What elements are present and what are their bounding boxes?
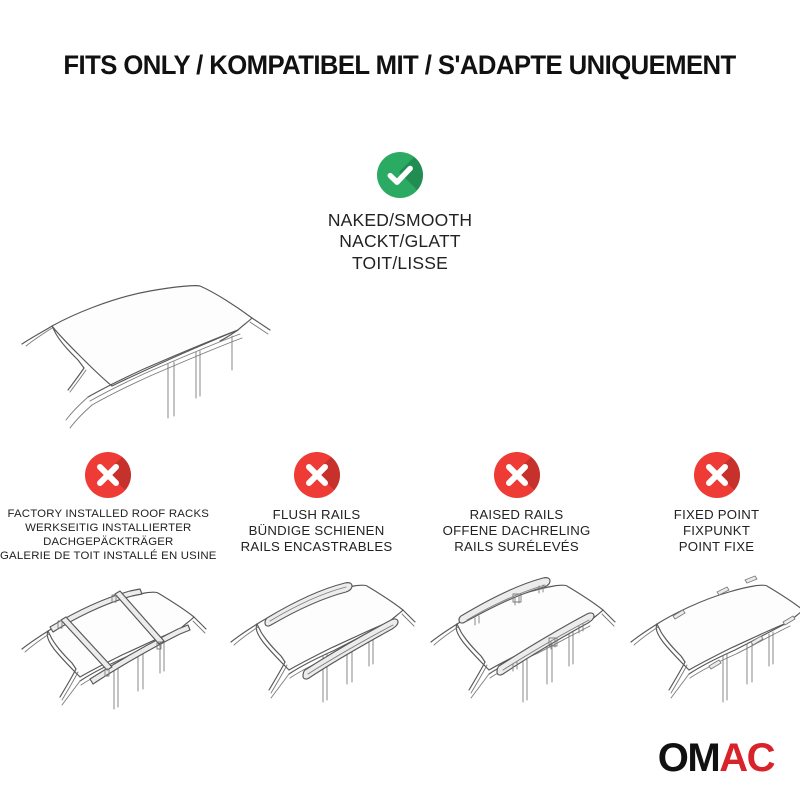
fixed-point-illustration — [617, 562, 800, 712]
page-title-text: FITS ONLY / KOMPATIBEL MIT / S'ADAPTE UN… — [64, 52, 736, 80]
label-line-2: FIXPUNKT — [617, 523, 800, 539]
cross-circle-icon — [494, 452, 540, 498]
raised-rails-illustration — [417, 562, 617, 712]
label-line-1: RAISED RAILS — [417, 507, 617, 523]
label-line-3: POINT FIXE — [617, 539, 800, 555]
label-line-1: FLUSH RAILS — [217, 507, 417, 523]
incompatible-row: FACTORY INSTALLED ROOF RACKS WERKSEITIG … — [0, 452, 800, 719]
label-line-2: WERKSEITIG INSTALLIERTER — [0, 521, 217, 535]
label-line-2: BÜNDIGE SCHIENEN — [217, 523, 417, 539]
incompatible-item-flush-rails: FLUSH RAILS BÜNDIGE SCHIENEN RAILS ENCAS… — [217, 452, 417, 712]
incompatible-item-factory-roof-racks: FACTORY INSTALLED ROOF RACKS WERKSEITIG … — [0, 452, 217, 719]
label-line-1: FIXED POINT — [617, 507, 800, 523]
cross-circle-icon — [694, 452, 740, 498]
omac-logo-ac: AC — [719, 736, 774, 780]
incompatible-label-factory-roof-racks: FACTORY INSTALLED ROOF RACKS WERKSEITIG … — [0, 507, 217, 563]
flush-rails-illustration — [217, 562, 417, 712]
page-title: FITS ONLY / KOMPATIBEL MIT / S'ADAPTE UN… — [0, 52, 800, 80]
omac-logo: OMAC — [658, 738, 774, 778]
label-line-2: OFFENE DACHRELING — [417, 523, 617, 539]
omac-logo-om: OM — [658, 736, 719, 780]
incompatible-item-raised-rails: RAISED RAILS OFFENE DACHRELING RAILS SUR… — [417, 452, 617, 712]
compatible-label-line-2: NACKT/GLATT — [0, 231, 800, 252]
label-line-3: RAILS ENCASTRABLES — [217, 539, 417, 555]
incompatible-item-fixed-point: FIXED POINT FIXPUNKT POINT FIXE — [617, 452, 800, 712]
label-line-4: GALERIE DE TOIT INSTALLÉ EN USINE — [0, 549, 217, 563]
cross-circle-icon — [85, 452, 131, 498]
label-line-3: DACHGEPÄCKTRÄGER — [0, 535, 217, 549]
factory-roof-rack-illustration — [0, 569, 217, 719]
label-line-3: RAILS SURÉLEVÉS — [417, 539, 617, 555]
incompatible-label-fixed-point: FIXED POINT FIXPUNKT POINT FIXE — [617, 507, 800, 556]
smooth-roof-illustration — [0, 278, 800, 438]
incompatible-label-flush-rails: FLUSH RAILS BÜNDIGE SCHIENEN RAILS ENCAS… — [217, 507, 417, 556]
cross-circle-icon — [294, 452, 340, 498]
compatible-label-line-1: NAKED/SMOOTH — [0, 210, 800, 231]
incompatible-label-raised-rails: RAISED RAILS OFFENE DACHRELING RAILS SUR… — [417, 507, 617, 556]
label-line-1: FACTORY INSTALLED ROOF RACKS — [0, 507, 217, 521]
compatible-label: NAKED/SMOOTH NACKT/GLATT TOIT/LISSE — [0, 210, 800, 274]
check-circle-icon — [377, 152, 423, 198]
compatible-section: NAKED/SMOOTH NACKT/GLATT TOIT/LISSE — [0, 152, 800, 274]
compatible-label-line-3: TOIT/LISSE — [0, 253, 800, 274]
